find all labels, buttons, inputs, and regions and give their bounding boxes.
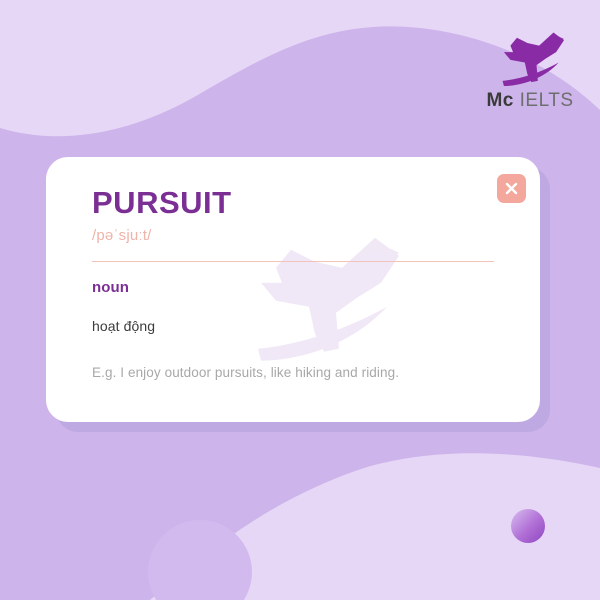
decorative-gradient-dot <box>511 509 545 543</box>
brand-logo: Mc IELTS <box>480 26 580 121</box>
vocabulary-card: PURSUIT /pəˈsjuːt/ noun hoạt động E.g. I… <box>46 157 540 422</box>
brand-name-bold: Mc <box>486 90 513 111</box>
word-title: PURSUIT <box>92 187 494 220</box>
phonetic-transcription: /pəˈsjuːt/ <box>92 227 494 244</box>
poster-canvas: Mc IELTS PURSUIT /pəˈsjuːt/ noun hoạt độ… <box>0 0 600 600</box>
close-button[interactable] <box>497 174 526 203</box>
brand-name: Mc IELTS <box>480 91 580 110</box>
card-content: PURSUIT /pəˈsjuːt/ noun hoạt động E.g. I… <box>46 157 540 422</box>
word-meaning: hoạt động <box>92 318 494 334</box>
hummingbird-icon <box>490 26 570 88</box>
part-of-speech: noun <box>92 279 494 296</box>
brand-name-light: IELTS <box>520 90 574 111</box>
close-icon <box>504 181 519 196</box>
example-sentence: E.g. I enjoy outdoor pursuits, like hiki… <box>92 365 494 380</box>
card-divider <box>92 261 494 262</box>
